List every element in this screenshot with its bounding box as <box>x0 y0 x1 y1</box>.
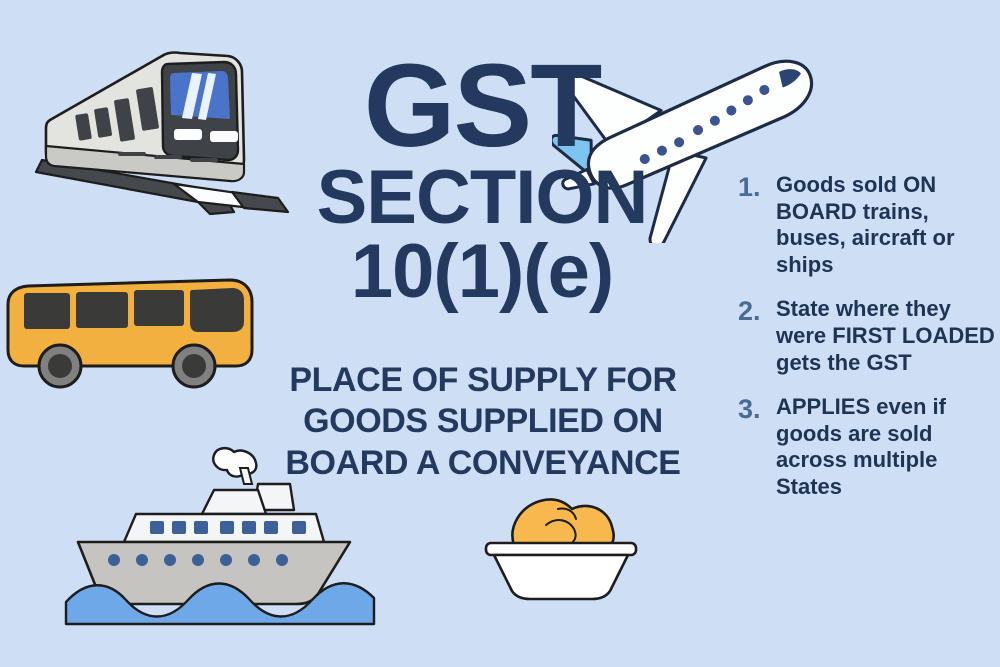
subtitle-line-1: PLACE OF SUPPLY FOR <box>248 360 718 401</box>
list-item-text: Goods sold ON BOARD trains, buses, aircr… <box>776 172 996 278</box>
poster-subtitle: PLACE OF SUPPLY FOR GOODS SUPPLIED ON BO… <box>248 360 718 484</box>
poster-title-block: GST SECTION 10(1)(e) <box>252 52 712 310</box>
list-item-number: 3. <box>738 394 776 426</box>
list-item: 1. Goods sold ON BOARD trains, buses, ai… <box>738 172 996 278</box>
title-gst: GST <box>252 52 712 161</box>
food-bowl-illustration <box>462 487 658 610</box>
train-front-face <box>162 62 238 160</box>
key-points-list: 1. Goods sold ON BOARD trains, buses, ai… <box>738 172 996 519</box>
title-clause: 10(1)(e) <box>252 234 712 310</box>
list-item-text: State where they were FIRST LOADED gets … <box>776 296 996 376</box>
title-section: SECTION <box>252 161 712 235</box>
bus-illustration <box>2 262 267 402</box>
list-item-text: APPLIES even if goods are sold across mu… <box>776 394 996 500</box>
list-item: 3. APPLIES even if goods are sold across… <box>738 394 996 500</box>
subtitle-line-2: GOODS SUPPLIED ON <box>248 401 718 442</box>
list-item-number: 2. <box>738 296 776 328</box>
subtitle-line-3: BOARD A CONVEYANCE <box>248 443 718 484</box>
list-item: 2. State where they were FIRST LOADED ge… <box>738 296 996 376</box>
infographic-poster: GST SECTION 10(1)(e) PLACE OF SUPPLY FOR… <box>0 0 1000 667</box>
list-item-number: 1. <box>738 172 776 204</box>
ship-water-waves <box>66 583 374 624</box>
